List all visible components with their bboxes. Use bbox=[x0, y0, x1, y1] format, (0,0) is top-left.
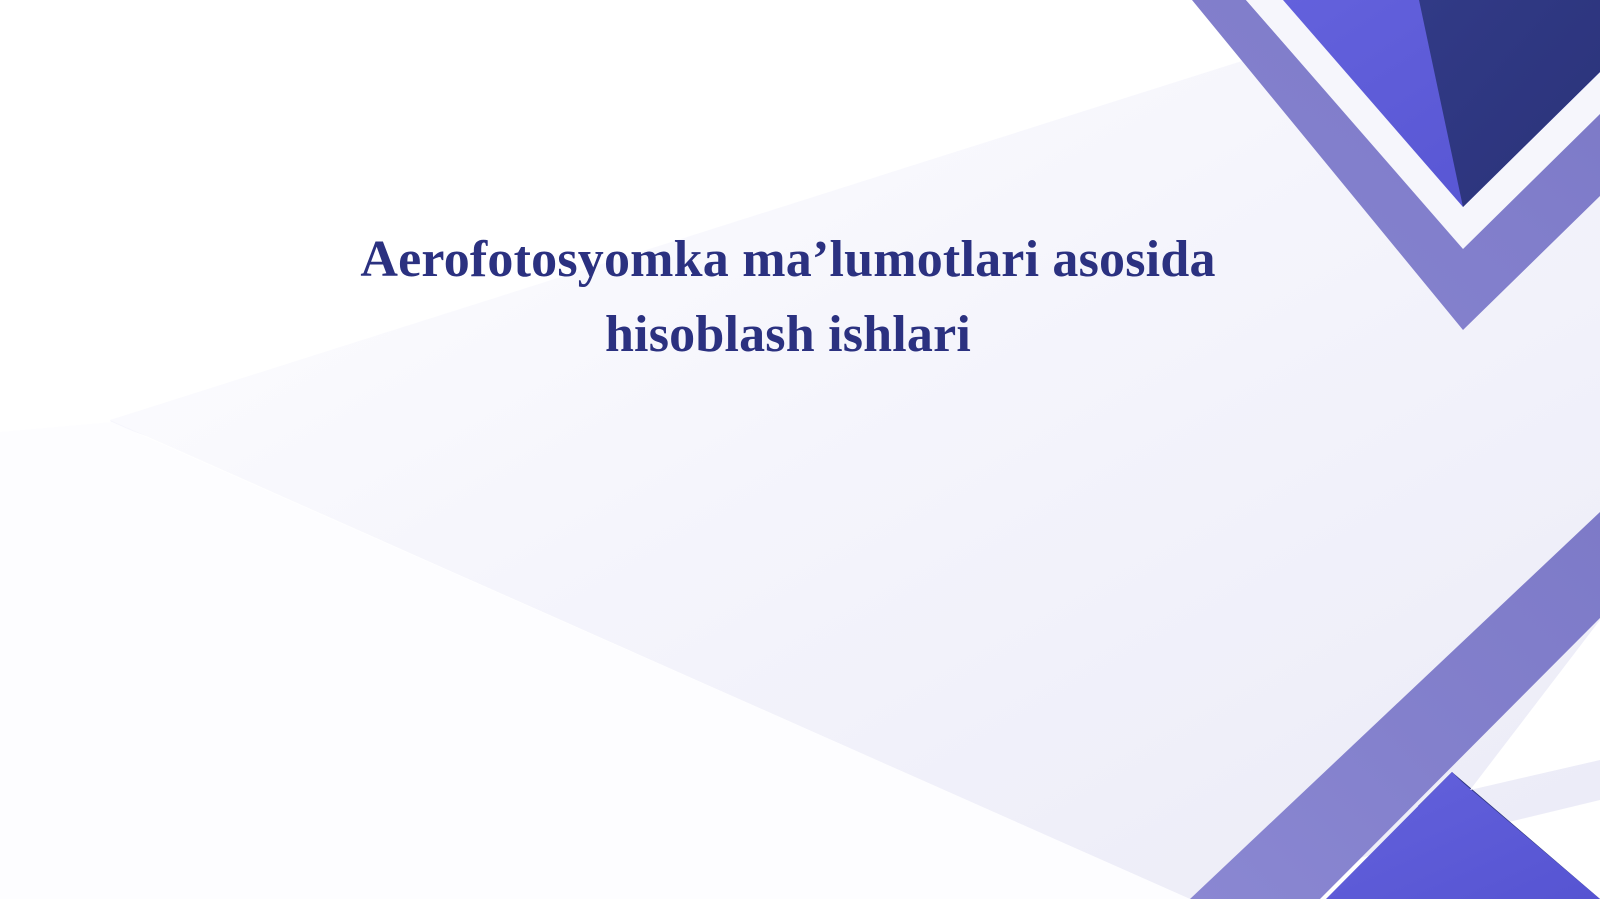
slide-title: Aerofotosyomka ma’lumotlari asosida hiso… bbox=[208, 222, 1368, 372]
presentation-slide: Aerofotosyomka ma’lumotlari asosida hiso… bbox=[0, 0, 1600, 899]
title-line-1: Aerofotosyomka ma’lumotlari asosida bbox=[208, 222, 1368, 297]
slide-background-graphics bbox=[0, 0, 1600, 899]
title-line-2: hisoblash ishlari bbox=[208, 297, 1368, 372]
